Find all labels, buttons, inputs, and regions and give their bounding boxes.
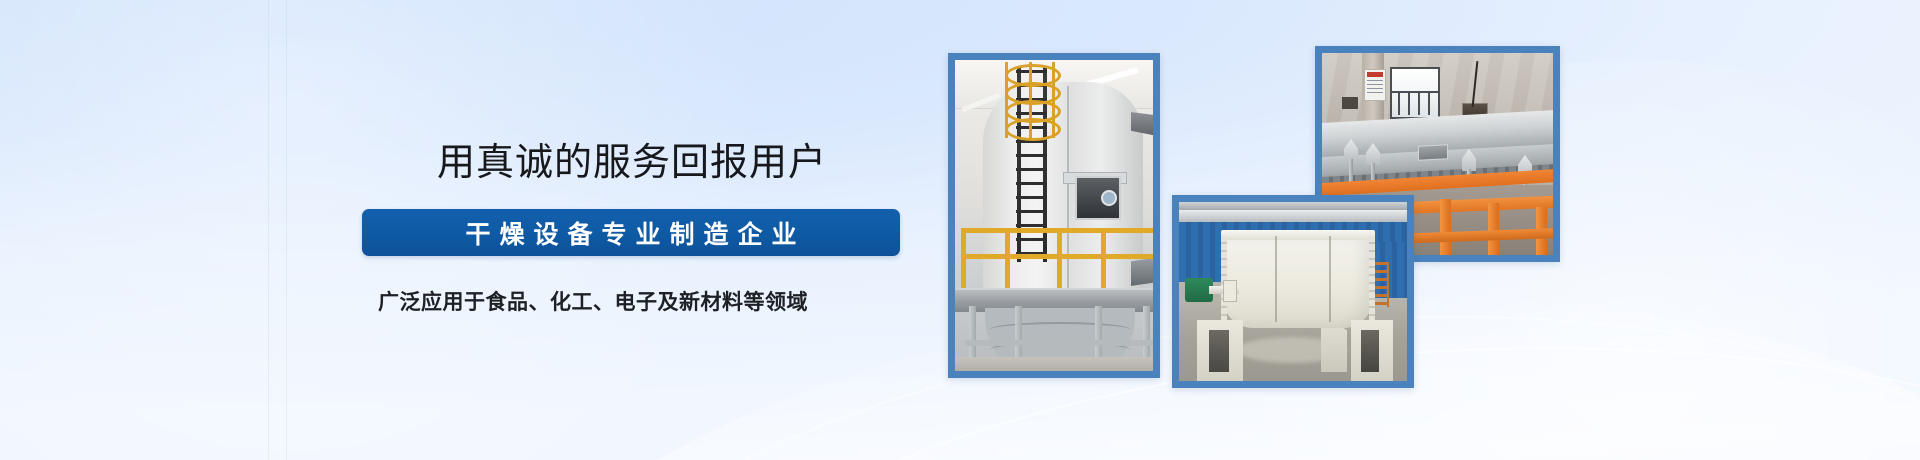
banner-tagline-label: 干燥设备专业制造企业 [362, 209, 900, 256]
photo-ribbon-mixer [1179, 202, 1407, 381]
banner-headline: 用真诚的服务回报用户 [437, 140, 827, 186]
banner-tagline-pill: 干燥设备专业制造企业 [362, 209, 900, 256]
banner-copy: 用真诚的服务回报用户 干燥设备专业制造企业 广泛应用于食品、化工、电子及新材料等… [0, 0, 940, 460]
banner-subline: 广泛应用于食品、化工、电子及新材料等领域 [378, 288, 808, 318]
photo-frame-spray-dryer-tower [948, 53, 1160, 378]
photo-frame-ribbon-mixer [1172, 195, 1414, 388]
photo-spray-dryer-tower [955, 60, 1153, 371]
promo-banner: 用真诚的服务回报用户 干燥设备专业制造企业 广泛应用于食品、化工、电子及新材料等… [0, 0, 1920, 460]
